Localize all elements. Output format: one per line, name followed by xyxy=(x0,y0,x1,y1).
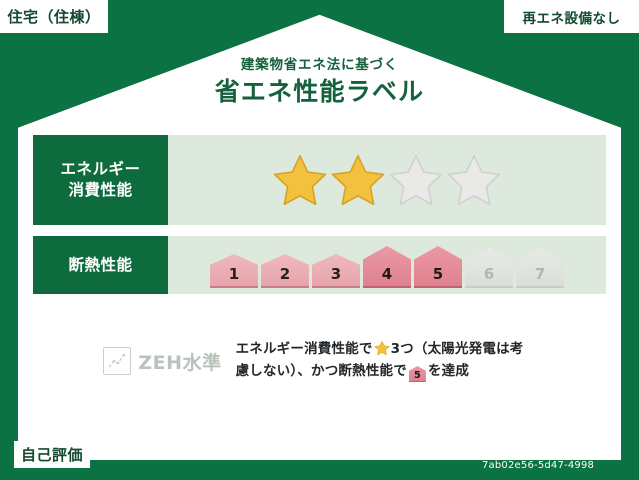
insulation-performance-label-block: 断熱性能 xyxy=(33,236,168,294)
desc-line2-b: を達成 xyxy=(428,363,469,379)
star-rating xyxy=(168,135,606,225)
building-type-tab: 住宅（住棟） xyxy=(0,0,108,33)
insulation-grade-5: 5 xyxy=(414,246,462,288)
grade-number: 6 xyxy=(484,267,494,286)
energy-label-line1: エネルギー xyxy=(60,159,140,180)
label-main-title: 省エネ性能ラベル xyxy=(0,78,639,107)
insulation-performance-row: 断熱性能 1234567 xyxy=(33,236,606,294)
energy-performance-label: 住宅（住棟） 再エネ設備なし 建築物省エネ法に基づく 省エネ性能ラベル エネルギ… xyxy=(0,0,639,480)
footer-left-group: 自己評価 メゾンドオンディーヌ xyxy=(14,441,241,468)
desc-line1-b: 3つ（太陽光発電 xyxy=(391,341,497,357)
energy-rating-value xyxy=(168,135,606,225)
insulation-grade-scale: 1234567 xyxy=(168,246,606,288)
renewable-equipment-tab: 再エネ設備なし xyxy=(504,0,639,33)
label-footer: 自己評価 メゾンドオンディーヌ 評価日 2024年11月29日 7ab02e56… xyxy=(0,428,639,480)
label-title-block: 建築物省エネ法に基づく 省エネ性能ラベル xyxy=(0,57,639,107)
insulation-grade-7: 7 xyxy=(516,248,564,288)
insulation-grade-3: 3 xyxy=(312,254,360,288)
self-evaluation-badge: 自己評価 xyxy=(14,441,90,468)
grade-number: 1 xyxy=(229,267,239,286)
zeh-description-text: エネルギー消費性能で3つ（太陽光発電は考慮しない）、かつ断熱性能で5を達成 xyxy=(236,339,536,383)
building-name: メゾンドオンディーヌ xyxy=(97,444,241,464)
inline-grade-badge: 5 xyxy=(409,366,426,382)
insulation-rating-value: 1234567 xyxy=(168,236,606,294)
label-subtitle: 建築物省エネ法に基づく xyxy=(0,57,639,73)
insulation-grade-1: 1 xyxy=(210,254,258,288)
evaluation-id: 7ab02e56-5d47-4998 xyxy=(453,460,623,471)
grade-house-shape: 2 xyxy=(261,254,309,288)
zeh-chart-icon xyxy=(103,347,131,375)
zeh-standard-row: ZEH水準 エネルギー消費性能で3つ（太陽光発電は考慮しない）、かつ断熱性能で5… xyxy=(33,330,606,392)
star-icon-filled xyxy=(272,152,328,208)
grade-house-shape: 1 xyxy=(210,254,258,288)
insulation-grade-4: 4 xyxy=(363,246,411,288)
grade-house-shape: 7 xyxy=(516,248,564,288)
star-icon-filled xyxy=(330,152,386,208)
grade-number: 4 xyxy=(382,267,392,286)
grade-house-shape: 5 xyxy=(414,246,462,288)
insulation-grade-6: 6 xyxy=(465,248,513,288)
grade-house-shape: 3 xyxy=(312,254,360,288)
insulation-grade-2: 2 xyxy=(261,254,309,288)
energy-performance-row: エネルギー 消費性能 xyxy=(33,135,606,225)
energy-label-line2: 消費性能 xyxy=(68,180,132,201)
evaluation-date: 評価日 2024年11月29日 xyxy=(453,437,623,458)
desc-line1-a: エネルギー消費性能で xyxy=(236,341,373,357)
grade-house-shape: 6 xyxy=(465,248,513,288)
zeh-standard-label: ZEH水準 xyxy=(138,348,221,375)
zeh-chip: ZEH水準 xyxy=(103,347,221,375)
inline-star-icon xyxy=(374,340,390,356)
grade-number: 7 xyxy=(535,267,545,286)
grade-house-shape: 4 xyxy=(363,246,411,288)
grade-number: 5 xyxy=(433,267,443,286)
energy-performance-label-block: エネルギー 消費性能 xyxy=(33,135,168,225)
star-icon-empty xyxy=(388,152,444,208)
insulation-label: 断熱性能 xyxy=(68,255,132,276)
grade-number: 2 xyxy=(280,267,290,286)
footer-right-group: 評価日 2024年11月29日 7ab02e56-5d47-4998 xyxy=(453,437,623,471)
grade-number: 3 xyxy=(331,267,341,286)
star-icon-empty xyxy=(446,152,502,208)
